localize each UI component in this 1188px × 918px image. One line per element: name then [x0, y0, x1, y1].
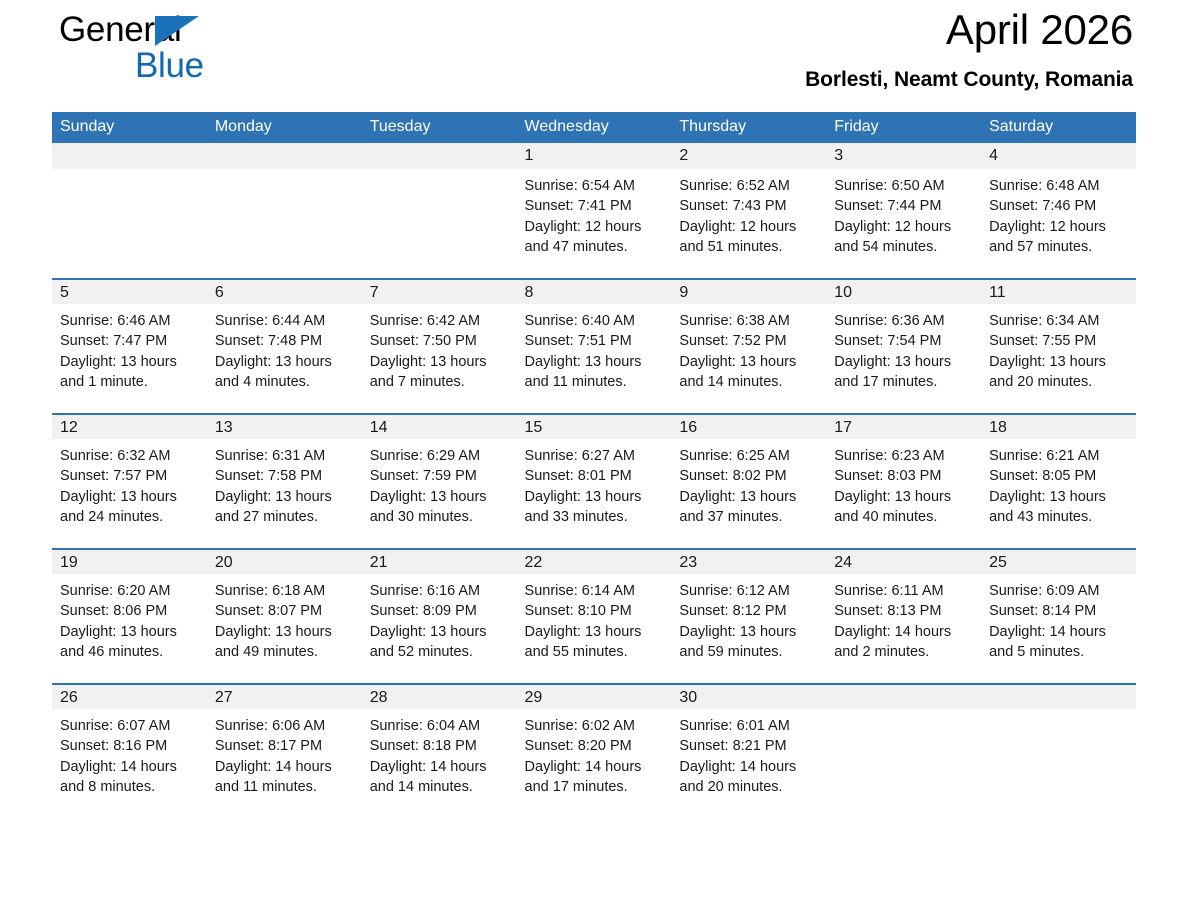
- sunrise-time: Sunrise: 6:42 AM: [370, 311, 509, 331]
- day-details: Sunrise: 6:06 AMSunset: 8:17 PMDaylight:…: [207, 709, 362, 798]
- sunrise-time: Sunrise: 6:09 AM: [989, 581, 1128, 601]
- daylight-duration: Daylight: 14 hours and 20 minutes.: [679, 757, 818, 798]
- sunset-time: Sunset: 7:51 PM: [525, 331, 664, 351]
- calendar-day-cell[interactable]: 20Sunrise: 6:18 AMSunset: 8:07 PMDayligh…: [207, 548, 362, 683]
- weekday-header-friday: Friday: [826, 112, 981, 143]
- day-number: 16: [671, 413, 826, 439]
- day-details: Sunrise: 6:42 AMSunset: 7:50 PMDaylight:…: [362, 304, 517, 393]
- daylight-duration: Daylight: 13 hours and 14 minutes.: [679, 352, 818, 393]
- day-details: Sunrise: 6:48 AMSunset: 7:46 PMDaylight:…: [981, 169, 1136, 258]
- day-number: 14: [362, 413, 517, 439]
- sunset-time: Sunset: 7:52 PM: [679, 331, 818, 351]
- day-details: Sunrise: 6:21 AMSunset: 8:05 PMDaylight:…: [981, 439, 1136, 528]
- sunset-time: Sunset: 8:10 PM: [525, 601, 664, 621]
- sunrise-time: Sunrise: 6:48 AM: [989, 176, 1128, 196]
- day-number: 30: [671, 683, 826, 709]
- calendar-header-row: SundayMondayTuesdayWednesdayThursdayFrid…: [52, 112, 1136, 143]
- calendar-day-cell[interactable]: 12Sunrise: 6:32 AMSunset: 7:57 PMDayligh…: [52, 413, 207, 548]
- sunrise-time: Sunrise: 6:36 AM: [834, 311, 973, 331]
- sunset-time: Sunset: 7:50 PM: [370, 331, 509, 351]
- sunset-time: Sunset: 7:55 PM: [989, 331, 1128, 351]
- day-number: 29: [517, 683, 672, 709]
- daylight-duration: Daylight: 13 hours and 49 minutes.: [215, 622, 354, 663]
- calendar-day-cell[interactable]: 7Sunrise: 6:42 AMSunset: 7:50 PMDaylight…: [362, 278, 517, 413]
- calendar-week-row: 1Sunrise: 6:54 AMSunset: 7:41 PMDaylight…: [52, 143, 1136, 278]
- sunrise-time: Sunrise: 6:01 AM: [679, 716, 818, 736]
- calendar-day-cell[interactable]: 10Sunrise: 6:36 AMSunset: 7:54 PMDayligh…: [826, 278, 981, 413]
- calendar-week-row: 12Sunrise: 6:32 AMSunset: 7:57 PMDayligh…: [52, 413, 1136, 548]
- calendar-empty-cell: [207, 143, 362, 278]
- sunset-time: Sunset: 7:47 PM: [60, 331, 199, 351]
- sunset-time: Sunset: 8:02 PM: [679, 466, 818, 486]
- daylight-duration: Daylight: 13 hours and 40 minutes.: [834, 487, 973, 528]
- calendar-day-cell[interactable]: 9Sunrise: 6:38 AMSunset: 7:52 PMDaylight…: [671, 278, 826, 413]
- daylight-duration: Daylight: 13 hours and 37 minutes.: [679, 487, 818, 528]
- calendar-day-cell[interactable]: 19Sunrise: 6:20 AMSunset: 8:06 PMDayligh…: [52, 548, 207, 683]
- location-subtitle: Borlesti, Neamt County, Romania: [805, 68, 1133, 92]
- day-details: Sunrise: 6:12 AMSunset: 8:12 PMDaylight:…: [671, 574, 826, 663]
- sunrise-time: Sunrise: 6:31 AM: [215, 446, 354, 466]
- day-details: Sunrise: 6:32 AMSunset: 7:57 PMDaylight:…: [52, 439, 207, 528]
- sunset-time: Sunset: 8:09 PM: [370, 601, 509, 621]
- logo-blue-text: Blue: [135, 48, 204, 83]
- calendar-day-cell[interactable]: 23Sunrise: 6:12 AMSunset: 8:12 PMDayligh…: [671, 548, 826, 683]
- day-details: Sunrise: 6:09 AMSunset: 8:14 PMDaylight:…: [981, 574, 1136, 663]
- sunset-time: Sunset: 8:14 PM: [989, 601, 1128, 621]
- day-number: 2: [671, 143, 826, 169]
- day-details: Sunrise: 6:11 AMSunset: 8:13 PMDaylight:…: [826, 574, 981, 663]
- daylight-duration: Daylight: 13 hours and 4 minutes.: [215, 352, 354, 393]
- day-details: Sunrise: 6:31 AMSunset: 7:58 PMDaylight:…: [207, 439, 362, 528]
- day-number: 18: [981, 413, 1136, 439]
- daylight-duration: Daylight: 12 hours and 57 minutes.: [989, 217, 1128, 258]
- sunrise-time: Sunrise: 6:02 AM: [525, 716, 664, 736]
- calendar-day-cell[interactable]: 27Sunrise: 6:06 AMSunset: 8:17 PMDayligh…: [207, 683, 362, 818]
- day-details: Sunrise: 6:34 AMSunset: 7:55 PMDaylight:…: [981, 304, 1136, 393]
- day-number: 8: [517, 278, 672, 304]
- sunset-time: Sunset: 8:12 PM: [679, 601, 818, 621]
- day-number: 4: [981, 143, 1136, 169]
- sunset-time: Sunset: 8:18 PM: [370, 736, 509, 756]
- sunrise-time: Sunrise: 6:46 AM: [60, 311, 199, 331]
- sunrise-time: Sunrise: 6:23 AM: [834, 446, 973, 466]
- sunset-time: Sunset: 8:01 PM: [525, 466, 664, 486]
- day-number: 5: [52, 278, 207, 304]
- daylight-duration: Daylight: 14 hours and 14 minutes.: [370, 757, 509, 798]
- daylight-duration: Daylight: 13 hours and 55 minutes.: [525, 622, 664, 663]
- calendar-day-cell[interactable]: 26Sunrise: 6:07 AMSunset: 8:16 PMDayligh…: [52, 683, 207, 818]
- day-details: Sunrise: 6:04 AMSunset: 8:18 PMDaylight:…: [362, 709, 517, 798]
- daylight-duration: Daylight: 13 hours and 17 minutes.: [834, 352, 973, 393]
- daylight-duration: Daylight: 13 hours and 11 minutes.: [525, 352, 664, 393]
- sunset-time: Sunset: 7:58 PM: [215, 466, 354, 486]
- weekday-header-saturday: Saturday: [981, 112, 1136, 143]
- day-details: Sunrise: 6:50 AMSunset: 7:44 PMDaylight:…: [826, 169, 981, 258]
- day-details: Sunrise: 6:14 AMSunset: 8:10 PMDaylight:…: [517, 574, 672, 663]
- sunrise-time: Sunrise: 6:11 AM: [834, 581, 973, 601]
- day-number: 3: [826, 143, 981, 169]
- sunrise-time: Sunrise: 6:06 AM: [215, 716, 354, 736]
- day-details: Sunrise: 6:18 AMSunset: 8:07 PMDaylight:…: [207, 574, 362, 663]
- daylight-duration: Daylight: 13 hours and 46 minutes.: [60, 622, 199, 663]
- sunrise-time: Sunrise: 6:32 AM: [60, 446, 199, 466]
- calendar-week-row: 5Sunrise: 6:46 AMSunset: 7:47 PMDaylight…: [52, 278, 1136, 413]
- sunset-time: Sunset: 8:13 PM: [834, 601, 973, 621]
- weekday-header-tuesday: Tuesday: [362, 112, 517, 143]
- day-number: 7: [362, 278, 517, 304]
- calendar-day-cell[interactable]: 2Sunrise: 6:52 AMSunset: 7:43 PMDaylight…: [671, 143, 826, 278]
- calendar-empty-cell: [826, 683, 981, 818]
- sunset-time: Sunset: 7:48 PM: [215, 331, 354, 351]
- sunset-time: Sunset: 7:41 PM: [525, 196, 664, 216]
- sunset-time: Sunset: 8:06 PM: [60, 601, 199, 621]
- day-details: Sunrise: 6:40 AMSunset: 7:51 PMDaylight:…: [517, 304, 672, 393]
- calendar-empty-cell: [52, 143, 207, 278]
- calendar-day-cell[interactable]: 16Sunrise: 6:25 AMSunset: 8:02 PMDayligh…: [671, 413, 826, 548]
- sunset-time: Sunset: 8:20 PM: [525, 736, 664, 756]
- daylight-duration: Daylight: 13 hours and 59 minutes.: [679, 622, 818, 663]
- day-details: Sunrise: 6:46 AMSunset: 7:47 PMDaylight:…: [52, 304, 207, 393]
- calendar-day-cell[interactable]: 29Sunrise: 6:02 AMSunset: 8:20 PMDayligh…: [517, 683, 672, 818]
- sunrise-time: Sunrise: 6:50 AM: [834, 176, 973, 196]
- calendar-day-cell[interactable]: 3Sunrise: 6:50 AMSunset: 7:44 PMDaylight…: [826, 143, 981, 278]
- sunset-time: Sunset: 7:43 PM: [679, 196, 818, 216]
- day-details: Sunrise: 6:54 AMSunset: 7:41 PMDaylight:…: [517, 169, 672, 258]
- day-number: 26: [52, 683, 207, 709]
- daylight-duration: Daylight: 13 hours and 24 minutes.: [60, 487, 199, 528]
- calendar-page: General Blue April 2026 Borlesti, Neamt …: [0, 0, 1188, 918]
- weekday-header-wednesday: Wednesday: [517, 112, 672, 143]
- day-number: 9: [671, 278, 826, 304]
- day-number: [207, 143, 362, 169]
- day-details: Sunrise: 6:20 AMSunset: 8:06 PMDaylight:…: [52, 574, 207, 663]
- sunrise-time: Sunrise: 6:52 AM: [679, 176, 818, 196]
- day-details: Sunrise: 6:16 AMSunset: 8:09 PMDaylight:…: [362, 574, 517, 663]
- day-number: 10: [826, 278, 981, 304]
- calendar-week-row: 19Sunrise: 6:20 AMSunset: 8:06 PMDayligh…: [52, 548, 1136, 683]
- day-number: 28: [362, 683, 517, 709]
- sunrise-time: Sunrise: 6:40 AM: [525, 311, 664, 331]
- sunset-time: Sunset: 8:03 PM: [834, 466, 973, 486]
- sunrise-sunset-calendar: SundayMondayTuesdayWednesdayThursdayFrid…: [52, 112, 1136, 818]
- day-number: [52, 143, 207, 169]
- sunrise-time: Sunrise: 6:20 AM: [60, 581, 199, 601]
- calendar-day-cell[interactable]: 21Sunrise: 6:16 AMSunset: 8:09 PMDayligh…: [362, 548, 517, 683]
- daylight-duration: Daylight: 14 hours and 5 minutes.: [989, 622, 1128, 663]
- daylight-duration: Daylight: 13 hours and 33 minutes.: [525, 487, 664, 528]
- calendar-empty-cell: [981, 683, 1136, 818]
- calendar-day-cell[interactable]: 24Sunrise: 6:11 AMSunset: 8:13 PMDayligh…: [826, 548, 981, 683]
- day-details: Sunrise: 6:29 AMSunset: 7:59 PMDaylight:…: [362, 439, 517, 528]
- day-number: 1: [517, 143, 672, 169]
- daylight-duration: Daylight: 13 hours and 20 minutes.: [989, 352, 1128, 393]
- daylight-duration: Daylight: 13 hours and 43 minutes.: [989, 487, 1128, 528]
- calendar-day-cell[interactable]: 6Sunrise: 6:44 AMSunset: 7:48 PMDaylight…: [207, 278, 362, 413]
- day-number: 15: [517, 413, 672, 439]
- daylight-duration: Daylight: 13 hours and 7 minutes.: [370, 352, 509, 393]
- day-details: Sunrise: 6:36 AMSunset: 7:54 PMDaylight:…: [826, 304, 981, 393]
- calendar-day-cell[interactable]: 8Sunrise: 6:40 AMSunset: 7:51 PMDaylight…: [517, 278, 672, 413]
- daylight-duration: Daylight: 13 hours and 30 minutes.: [370, 487, 509, 528]
- day-number: 19: [52, 548, 207, 574]
- daylight-duration: Daylight: 12 hours and 47 minutes.: [525, 217, 664, 258]
- calendar-day-cell[interactable]: 25Sunrise: 6:09 AMSunset: 8:14 PMDayligh…: [981, 548, 1136, 683]
- day-number: 12: [52, 413, 207, 439]
- sunset-time: Sunset: 8:05 PM: [989, 466, 1128, 486]
- calendar-day-cell[interactable]: 28Sunrise: 6:04 AMSunset: 8:18 PMDayligh…: [362, 683, 517, 818]
- sunset-time: Sunset: 8:21 PM: [679, 736, 818, 756]
- title-block: April 2026 Borlesti, Neamt County, Roman…: [805, 0, 1133, 92]
- weekday-header-monday: Monday: [207, 112, 362, 143]
- daylight-duration: Daylight: 14 hours and 11 minutes.: [215, 757, 354, 798]
- sunrise-time: Sunrise: 6:14 AM: [525, 581, 664, 601]
- daylight-duration: Daylight: 14 hours and 8 minutes.: [60, 757, 199, 798]
- generalblue-logo[interactable]: General Blue: [59, 12, 259, 94]
- sunrise-time: Sunrise: 6:44 AM: [215, 311, 354, 331]
- calendar-day-cell[interactable]: 17Sunrise: 6:23 AMSunset: 8:03 PMDayligh…: [826, 413, 981, 548]
- day-number: 25: [981, 548, 1136, 574]
- day-number: 13: [207, 413, 362, 439]
- daylight-duration: Daylight: 14 hours and 17 minutes.: [525, 757, 664, 798]
- weekday-header-thursday: Thursday: [671, 112, 826, 143]
- calendar-body: 1Sunrise: 6:54 AMSunset: 7:41 PMDaylight…: [52, 143, 1136, 818]
- day-number: 24: [826, 548, 981, 574]
- sunrise-time: Sunrise: 6:16 AM: [370, 581, 509, 601]
- sunrise-time: Sunrise: 6:18 AM: [215, 581, 354, 601]
- day-number: 11: [981, 278, 1136, 304]
- sunset-time: Sunset: 7:57 PM: [60, 466, 199, 486]
- day-number: 22: [517, 548, 672, 574]
- daylight-duration: Daylight: 14 hours and 2 minutes.: [834, 622, 973, 663]
- weekday-header-sunday: Sunday: [52, 112, 207, 143]
- day-details: Sunrise: 6:01 AMSunset: 8:21 PMDaylight:…: [671, 709, 826, 798]
- sunset-time: Sunset: 8:07 PM: [215, 601, 354, 621]
- sunset-time: Sunset: 7:59 PM: [370, 466, 509, 486]
- sunrise-time: Sunrise: 6:07 AM: [60, 716, 199, 736]
- day-details: Sunrise: 6:44 AMSunset: 7:48 PMDaylight:…: [207, 304, 362, 393]
- calendar-day-cell[interactable]: 30Sunrise: 6:01 AMSunset: 8:21 PMDayligh…: [671, 683, 826, 818]
- day-number: 17: [826, 413, 981, 439]
- sunrise-time: Sunrise: 6:12 AM: [679, 581, 818, 601]
- sunrise-time: Sunrise: 6:34 AM: [989, 311, 1128, 331]
- calendar-day-cell[interactable]: 13Sunrise: 6:31 AMSunset: 7:58 PMDayligh…: [207, 413, 362, 548]
- sunrise-time: Sunrise: 6:54 AM: [525, 176, 664, 196]
- day-number: 23: [671, 548, 826, 574]
- calendar-day-cell[interactable]: 18Sunrise: 6:21 AMSunset: 8:05 PMDayligh…: [981, 413, 1136, 548]
- day-details: Sunrise: 6:23 AMSunset: 8:03 PMDaylight:…: [826, 439, 981, 528]
- day-number: 27: [207, 683, 362, 709]
- sunrise-time: Sunrise: 6:38 AM: [679, 311, 818, 331]
- daylight-duration: Daylight: 13 hours and 1 minute.: [60, 352, 199, 393]
- calendar-day-cell[interactable]: 15Sunrise: 6:27 AMSunset: 8:01 PMDayligh…: [517, 413, 672, 548]
- sunrise-time: Sunrise: 6:27 AM: [525, 446, 664, 466]
- sunrise-time: Sunrise: 6:25 AM: [679, 446, 818, 466]
- day-details: Sunrise: 6:07 AMSunset: 8:16 PMDaylight:…: [52, 709, 207, 798]
- page-header: General Blue April 2026 Borlesti, Neamt …: [52, 0, 1136, 112]
- daylight-duration: Daylight: 13 hours and 52 minutes.: [370, 622, 509, 663]
- calendar-day-cell[interactable]: 1Sunrise: 6:54 AMSunset: 7:41 PMDaylight…: [517, 143, 672, 278]
- logo-triangle-icon: [155, 16, 199, 46]
- sunset-time: Sunset: 7:46 PM: [989, 196, 1128, 216]
- day-number: [362, 143, 517, 169]
- day-number: 21: [362, 548, 517, 574]
- page-title: April 2026: [805, 8, 1133, 52]
- sunset-time: Sunset: 7:54 PM: [834, 331, 973, 351]
- sunrise-time: Sunrise: 6:04 AM: [370, 716, 509, 736]
- day-details: Sunrise: 6:25 AMSunset: 8:02 PMDaylight:…: [671, 439, 826, 528]
- calendar-day-cell[interactable]: 11Sunrise: 6:34 AMSunset: 7:55 PMDayligh…: [981, 278, 1136, 413]
- calendar-day-cell[interactable]: 22Sunrise: 6:14 AMSunset: 8:10 PMDayligh…: [517, 548, 672, 683]
- sunrise-time: Sunrise: 6:21 AM: [989, 446, 1128, 466]
- sunrise-time: Sunrise: 6:29 AM: [370, 446, 509, 466]
- calendar-empty-cell: [362, 143, 517, 278]
- calendar-day-cell[interactable]: 4Sunrise: 6:48 AMSunset: 7:46 PMDaylight…: [981, 143, 1136, 278]
- day-details: Sunrise: 6:27 AMSunset: 8:01 PMDaylight:…: [517, 439, 672, 528]
- calendar-week-row: 26Sunrise: 6:07 AMSunset: 8:16 PMDayligh…: [52, 683, 1136, 818]
- day-details: Sunrise: 6:02 AMSunset: 8:20 PMDaylight:…: [517, 709, 672, 798]
- sunset-time: Sunset: 8:16 PM: [60, 736, 199, 756]
- daylight-duration: Daylight: 12 hours and 54 minutes.: [834, 217, 973, 258]
- day-details: Sunrise: 6:52 AMSunset: 7:43 PMDaylight:…: [671, 169, 826, 258]
- daylight-duration: Daylight: 13 hours and 27 minutes.: [215, 487, 354, 528]
- calendar-day-cell[interactable]: 14Sunrise: 6:29 AMSunset: 7:59 PMDayligh…: [362, 413, 517, 548]
- day-details: Sunrise: 6:38 AMSunset: 7:52 PMDaylight:…: [671, 304, 826, 393]
- day-number: [826, 683, 981, 709]
- day-number: 20: [207, 548, 362, 574]
- daylight-duration: Daylight: 12 hours and 51 minutes.: [679, 217, 818, 258]
- sunset-time: Sunset: 8:17 PM: [215, 736, 354, 756]
- sunset-time: Sunset: 7:44 PM: [834, 196, 973, 216]
- calendar-day-cell[interactable]: 5Sunrise: 6:46 AMSunset: 7:47 PMDaylight…: [52, 278, 207, 413]
- day-number: [981, 683, 1136, 709]
- day-number: 6: [207, 278, 362, 304]
